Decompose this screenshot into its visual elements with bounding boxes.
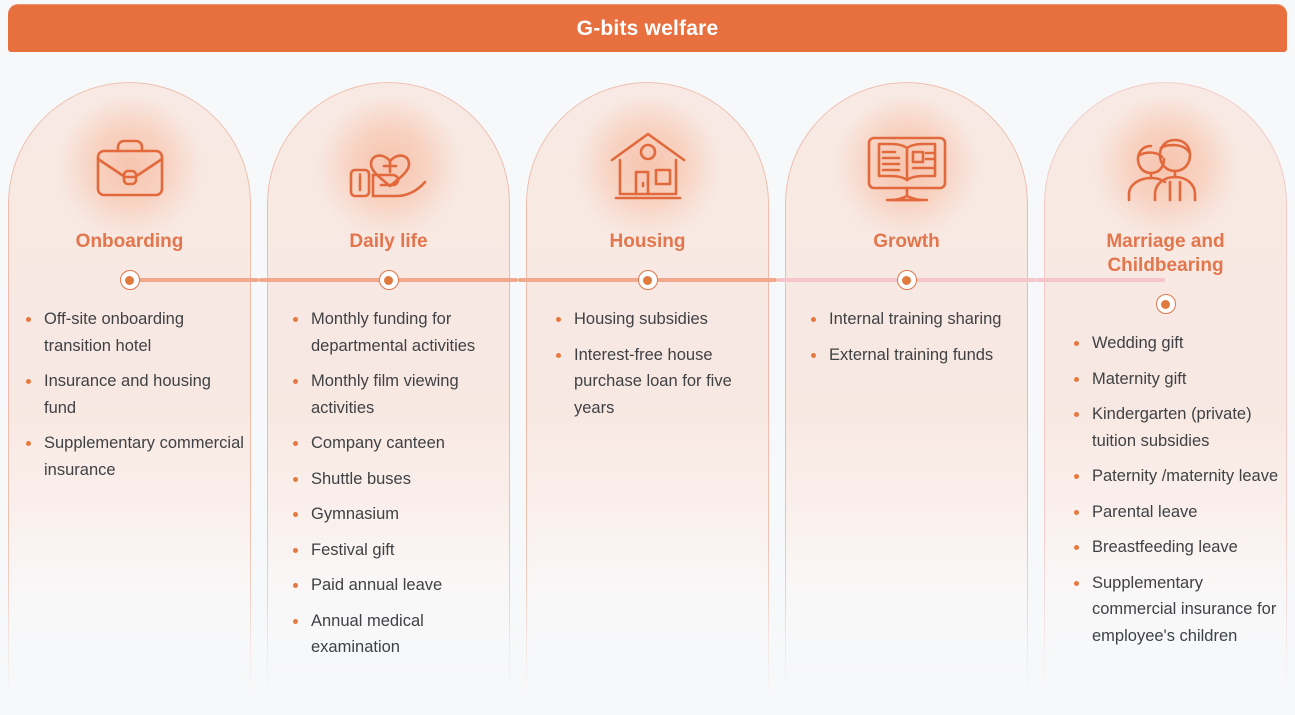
timeline-node [120, 270, 140, 290]
benefit-list: Monthly funding for departmental activit… [291, 306, 508, 670]
monitor-book-icon [855, 116, 959, 220]
timeline-node [379, 270, 399, 290]
list-item: Supplementary commercial insurance [24, 430, 245, 483]
timeline-node [1156, 294, 1176, 314]
header-bar: G-bits welfare [8, 4, 1287, 52]
column-growth[interactable]: Growth Internal training sharing Externa… [777, 78, 1036, 715]
list-item: Breastfeeding leave [1072, 534, 1289, 561]
benefit-list: Wedding gift Maternity gift Kindergarten… [1072, 330, 1289, 658]
list-item: Wedding gift [1072, 330, 1289, 357]
column-daily-life[interactable]: Daily life Monthly funding for departmen… [259, 78, 518, 715]
timeline-node [897, 270, 917, 290]
infographic-page: G-bits welfare Onboarding Off-site onboa… [0, 0, 1295, 715]
list-item: Supplementary commercial insurance for e… [1072, 570, 1289, 650]
house-icon [596, 116, 700, 220]
column-title: Daily life [259, 230, 518, 254]
list-item: External training funds [809, 342, 1020, 369]
benefit-list: Housing subsidies Interest-free house pu… [554, 306, 765, 430]
list-item: Shuttle buses [291, 466, 508, 493]
column-title-line-1: Marriage and [1036, 230, 1295, 254]
list-item: Monthly funding for departmental activit… [291, 306, 508, 359]
benefit-list: Internal training sharing External train… [809, 306, 1020, 377]
column-title: Marriage and Childbearing [1036, 230, 1295, 278]
list-item: Kindergarten (private) tuition subsidies [1072, 401, 1289, 454]
column-title-line-2: Childbearing [1036, 254, 1295, 278]
column-housing[interactable]: Housing Housing subsidies Interest-free … [518, 78, 777, 715]
list-item: Paid annual leave [291, 572, 508, 599]
list-item: Internal training sharing [809, 306, 1020, 333]
columns-container: Onboarding Off-site onboarding transitio… [0, 78, 1295, 715]
column-title: Housing [518, 230, 777, 254]
benefit-list: Off-site onboarding transition hotel Ins… [24, 306, 245, 492]
list-item: Gymnasium [291, 501, 508, 528]
timeline-node [638, 270, 658, 290]
column-title: Onboarding [0, 230, 259, 254]
list-item: Company canteen [291, 430, 508, 457]
column-title: Growth [777, 230, 1036, 254]
list-item: Parental leave [1072, 499, 1289, 526]
list-item: Interest-free house purchase loan for fi… [554, 342, 765, 422]
list-item: Maternity gift [1072, 366, 1289, 393]
list-item: Paternity /maternity leave [1072, 463, 1289, 490]
list-item: Housing subsidies [554, 306, 765, 333]
page-title: G-bits welfare [577, 18, 719, 39]
briefcase-icon [78, 116, 182, 220]
connector-line-segment [129, 278, 259, 282]
list-item: Monthly film viewing activities [291, 368, 508, 421]
hand-heart-care-icon [337, 116, 441, 220]
list-item: Festival gift [291, 537, 508, 564]
list-item: Insurance and housing fund [24, 368, 245, 421]
list-item: Off-site onboarding transition hotel [24, 306, 245, 359]
connector-line-segment [1036, 278, 1165, 282]
column-onboarding[interactable]: Onboarding Off-site onboarding transitio… [0, 78, 259, 715]
column-marriage-and-childbearing[interactable]: Marriage and Childbearing Wedding gift M… [1036, 78, 1295, 715]
couple-icon [1114, 116, 1218, 220]
list-item: Annual medical examination [291, 608, 508, 661]
